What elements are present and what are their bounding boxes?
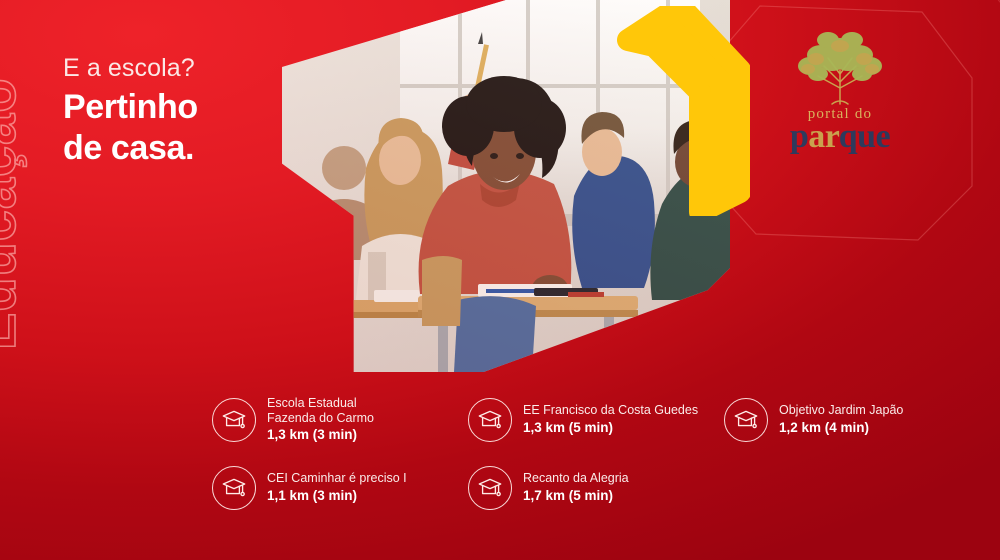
classroom-photo (282, 0, 730, 372)
school-name: Recanto da Alegria (523, 471, 629, 486)
headline-block: E a escola? Pertinho de casa. (63, 56, 198, 170)
photo-illustration (282, 0, 730, 372)
school-distance: 1,1 km (3 min) (267, 488, 407, 505)
logo-p: p (790, 118, 808, 155)
list-item-text: EE Francisco da Costa Guedes 1,3 km (5 m… (523, 403, 698, 436)
school-distance: 1,7 km (5 min) (523, 488, 629, 505)
list-item[interactable]: CEI Caminhar é preciso I 1,1 km (3 min) (212, 454, 468, 522)
graduation-cap-icon (724, 398, 768, 442)
school-distance: 1,2 km (4 min) (779, 420, 903, 437)
slide-canvas: E a escola? Pertinho de casa. Educação (0, 0, 1000, 560)
school-name: Escola Estadual Fazenda do Carmo (267, 396, 374, 427)
list-item[interactable]: EE Francisco da Costa Guedes 1,3 km (5 m… (468, 386, 724, 454)
page-title: Pertinho de casa. (63, 87, 198, 170)
vertical-section-label: Educação (0, 77, 28, 350)
list-item-text: Recanto da Alegria 1,7 km (5 min) (523, 471, 629, 504)
list-item[interactable]: Objetivo Jardim Japão 1,2 km (4 min) (724, 386, 982, 454)
list-item-text: Objetivo Jardim Japão 1,2 km (4 min) (779, 403, 903, 436)
school-name: Objetivo Jardim Japão (779, 403, 903, 418)
list-item[interactable]: Escola Estadual Fazenda do Carmo 1,3 km … (212, 386, 468, 454)
school-name: CEI Caminhar é preciso I (267, 471, 407, 486)
headline-kicker: E a escola? (63, 56, 198, 81)
school-distance: 1,3 km (3 min) (267, 427, 374, 444)
list-item[interactable]: Recanto da Alegria 1,7 km (5 min) (468, 454, 724, 522)
graduation-cap-icon (468, 398, 512, 442)
list-item-text: Escola Estadual Fazenda do Carmo 1,3 km … (267, 396, 374, 444)
graduation-cap-icon (468, 466, 512, 510)
school-list: Escola Estadual Fazenda do Carmo 1,3 km … (212, 386, 982, 522)
logo-que: que (839, 118, 890, 155)
graduation-cap-icon (212, 398, 256, 442)
logo-line-2: parque (760, 120, 920, 154)
school-distance: 1,3 km (5 min) (523, 420, 698, 437)
brand-logo[interactable]: portal do parque (760, 26, 920, 166)
logo-ar: ar (808, 118, 838, 155)
list-item-text: CEI Caminhar é preciso I 1,1 km (3 min) (267, 471, 407, 504)
tree-icon (788, 26, 892, 108)
school-name: EE Francisco da Costa Guedes (523, 403, 698, 418)
graduation-cap-icon (212, 466, 256, 510)
